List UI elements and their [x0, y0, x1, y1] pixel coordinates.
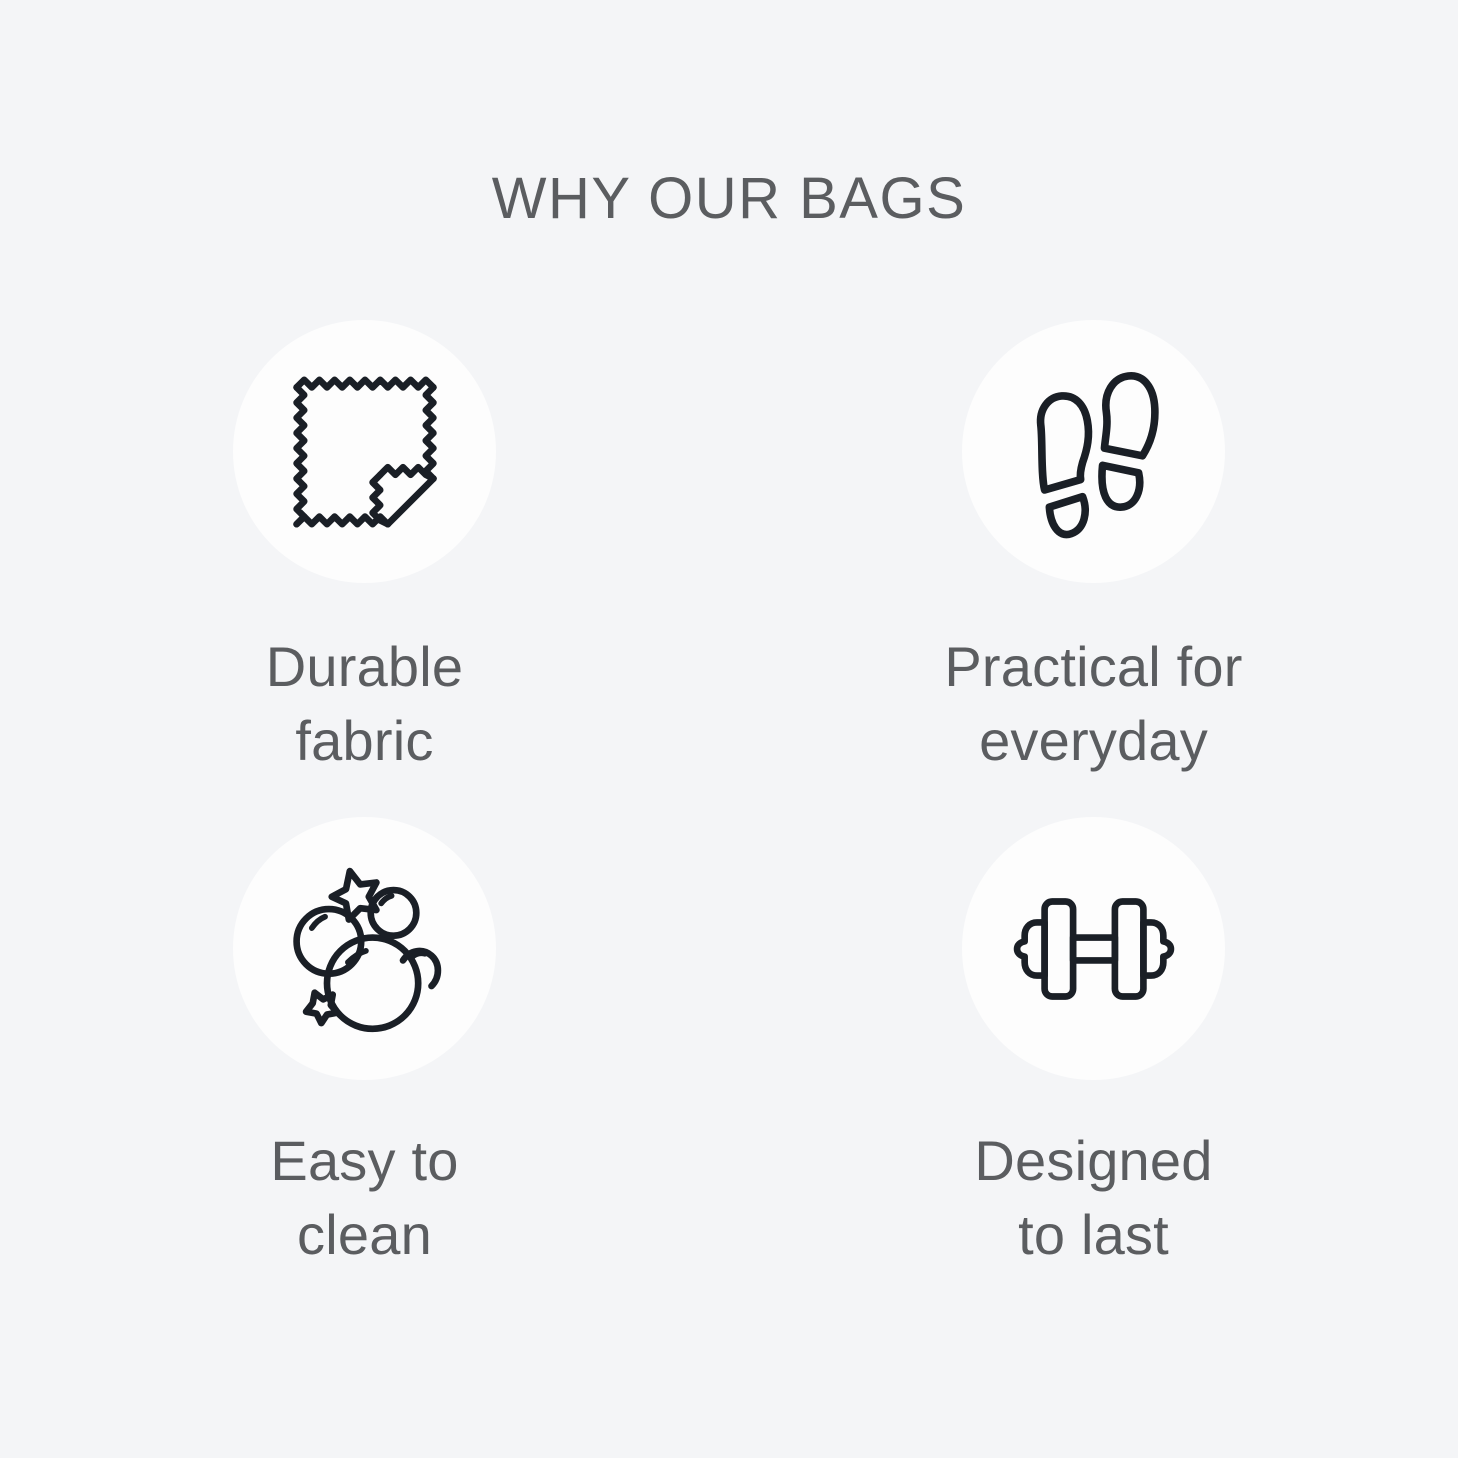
bubbles-icon: [270, 854, 460, 1044]
feature-item-durable-fabric: Durable fabric: [135, 320, 595, 817]
feature-label: Practical for everyday: [944, 630, 1242, 779]
why-our-bags-section: WHY OUR BAGS: [0, 0, 1458, 1458]
features-grid: Durable fabric: [0, 320, 1458, 1314]
feature-label: Designed to last: [974, 1124, 1212, 1273]
icon-circle-practical-for-everyday: [962, 320, 1225, 583]
icon-circle-durable-fabric: [233, 320, 496, 583]
feature-label: Easy to clean: [270, 1124, 458, 1273]
icon-circle-easy-to-clean: [233, 817, 496, 1080]
footprints-icon: [999, 357, 1189, 547]
dumbbell-icon: [999, 854, 1189, 1044]
fabric-swatch-icon: [270, 357, 460, 547]
feature-item-practical-for-everyday: Practical for everyday: [864, 320, 1324, 817]
icon-circle-designed-to-last: [962, 817, 1225, 1080]
feature-label: Durable fabric: [266, 630, 464, 779]
feature-item-designed-to-last: Designed to last: [864, 817, 1324, 1314]
feature-item-easy-to-clean: Easy to clean: [135, 817, 595, 1314]
page-title: WHY OUR BAGS: [0, 167, 1458, 231]
